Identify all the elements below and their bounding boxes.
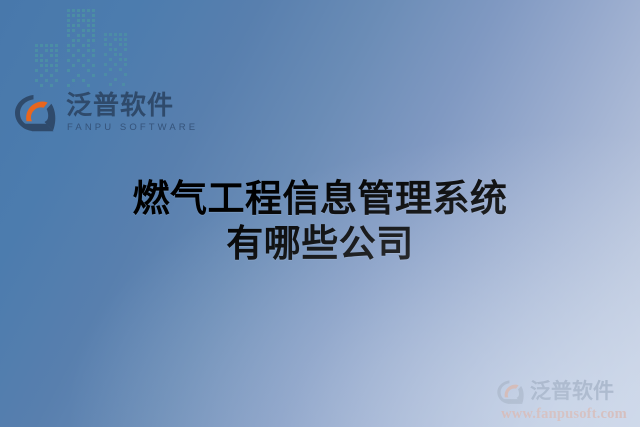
fanpu-logo-wordmark: 泛普软件 FANPU SOFTWARE: [66, 93, 198, 132]
fanpu-watermark-mark-icon: [496, 379, 526, 405]
headline-line-2: 有哪些公司: [0, 221, 640, 266]
banner-headline: 燃气工程信息管理系统 有哪些公司: [0, 176, 640, 266]
headline-line-1: 燃气工程信息管理系统: [0, 176, 640, 221]
pixel-skyline-decoration: [34, 0, 144, 92]
fanpu-logo-name-cn: 泛普软件: [66, 93, 198, 120]
promo-banner: 泛普软件 FANPU SOFTWARE 燃气工程信息管理系统 有哪些公司 泛普软…: [0, 0, 640, 427]
watermark-url: www.fanpusoft.com: [496, 407, 632, 422]
fanpu-logo-mark-icon: [13, 93, 59, 133]
watermark-logo-row: 泛普软件: [496, 379, 632, 405]
watermark-name-cn: 泛普软件: [530, 381, 614, 402]
fanpu-watermark: 泛普软件 www.fanpusoft.com: [496, 379, 632, 422]
fanpu-logo-name-en: FANPU SOFTWARE: [67, 123, 198, 133]
fanpu-logo: 泛普软件 FANPU SOFTWARE: [13, 93, 198, 133]
